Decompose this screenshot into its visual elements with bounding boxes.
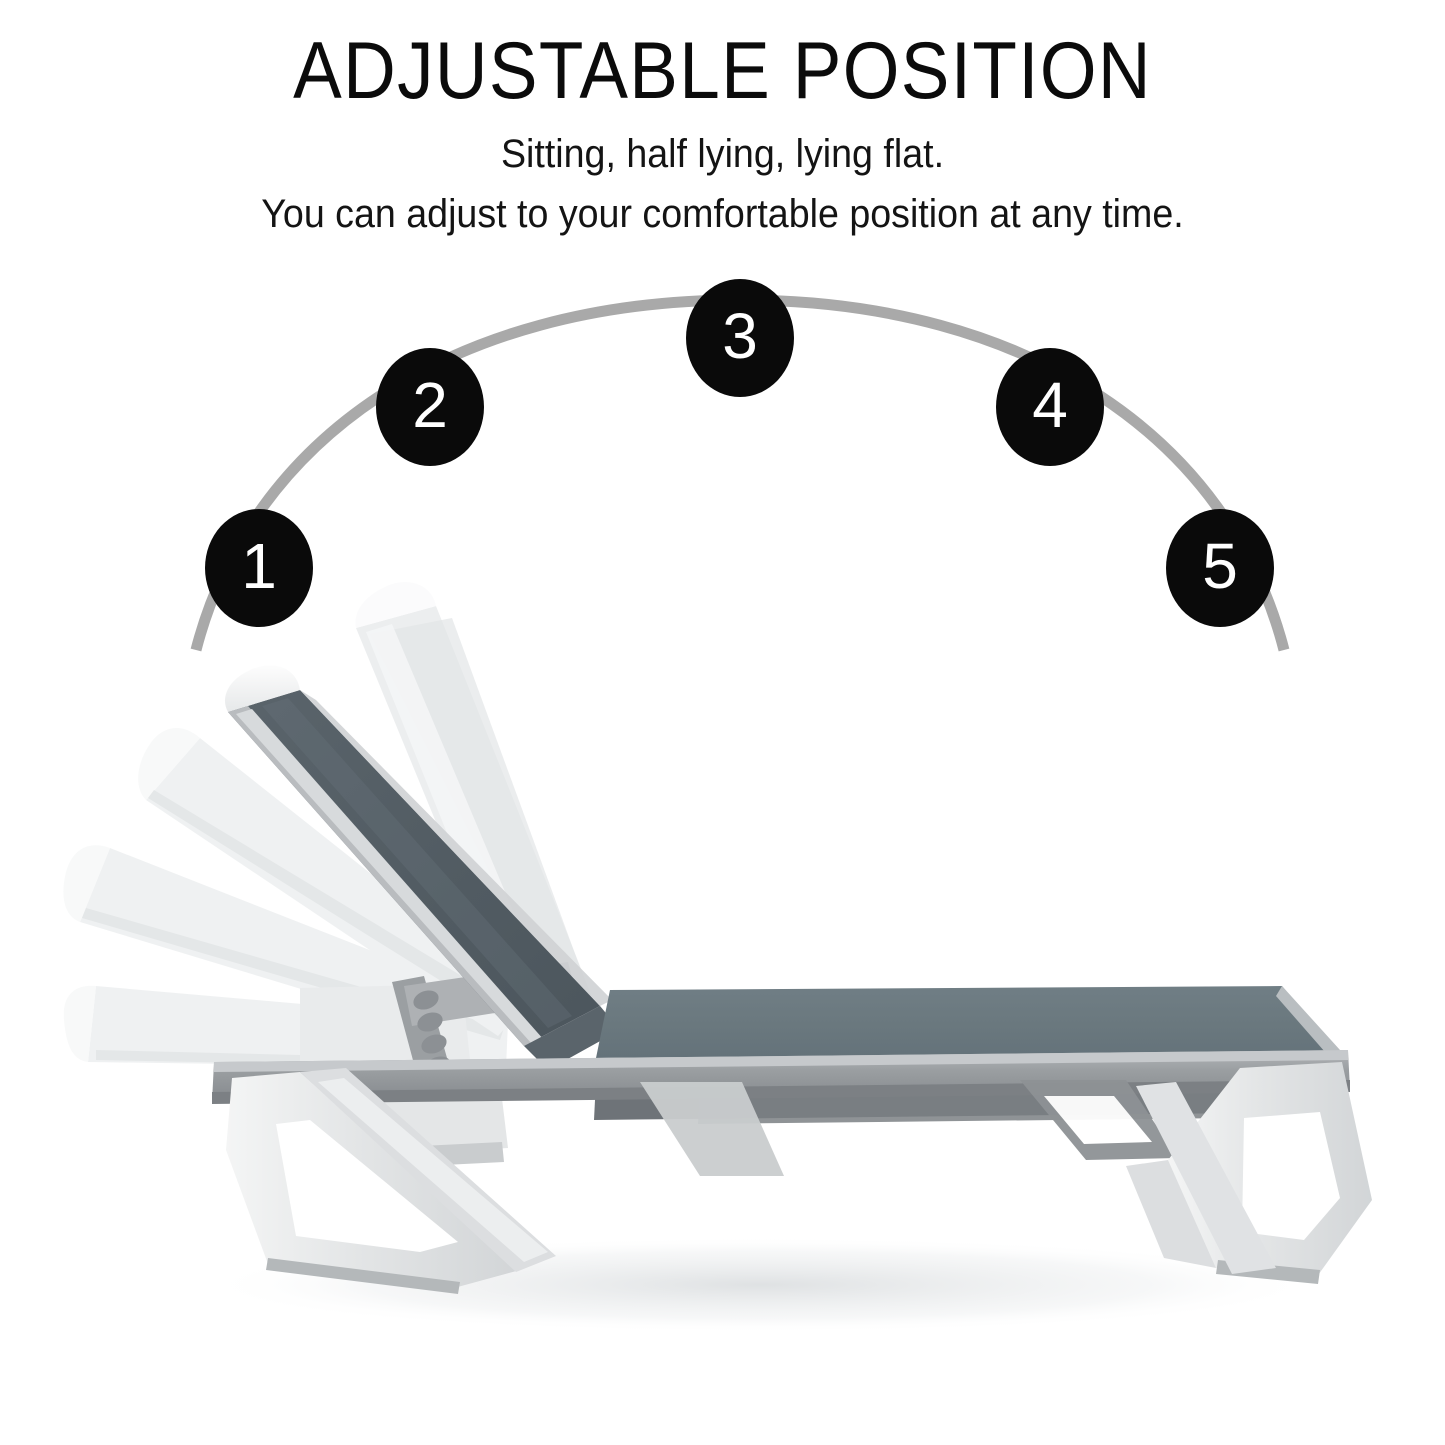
- infographic-canvas: ADJUSTABLE POSITION Sitting, half lying,…: [0, 0, 1445, 1445]
- chaise-lounge-illustration: [0, 0, 1445, 1445]
